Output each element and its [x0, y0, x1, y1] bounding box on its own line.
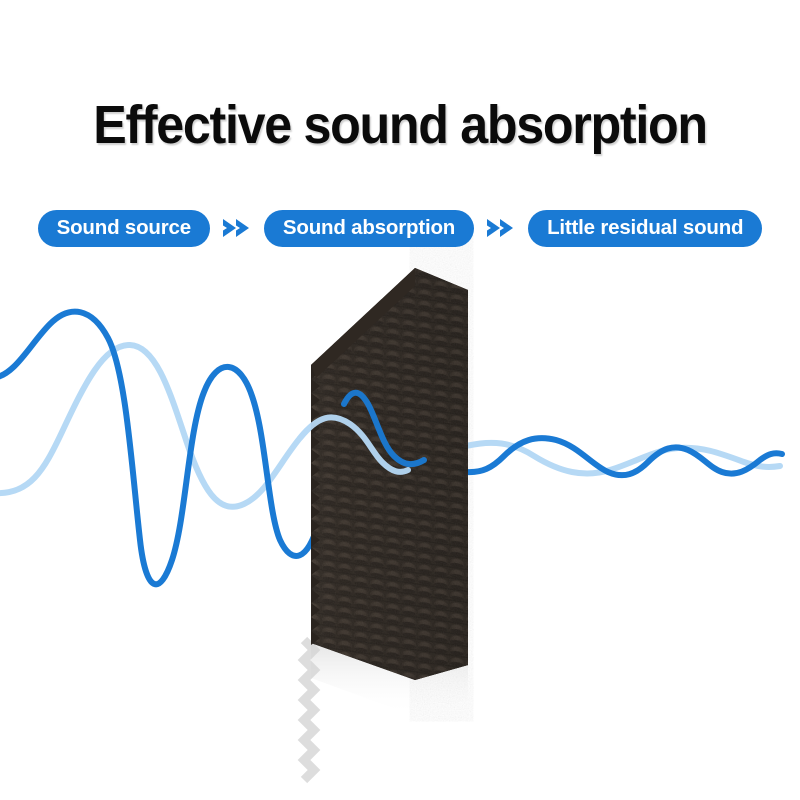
- process-flow-badges: Sound source Sound absorption Little res…: [0, 209, 800, 247]
- page-title: Effective sound absorption: [28, 96, 772, 154]
- double-chevron-right-icon: [219, 216, 255, 240]
- incoming-wave-secondary: [0, 345, 350, 507]
- double-chevron-right-icon-2: [483, 216, 519, 240]
- flow-step-sound-source[interactable]: Sound source: [38, 210, 210, 247]
- flow-step-sound-absorption[interactable]: Sound absorption: [264, 210, 474, 247]
- outgoing-sound-waves: [466, 438, 782, 475]
- incoming-sound-waves: [0, 312, 350, 585]
- infographic-canvas: Effective sound absorption Sound source …: [0, 0, 800, 800]
- acoustic-foam-panel: [300, 200, 485, 780]
- flow-step-little-residual-sound[interactable]: Little residual sound: [528, 210, 762, 247]
